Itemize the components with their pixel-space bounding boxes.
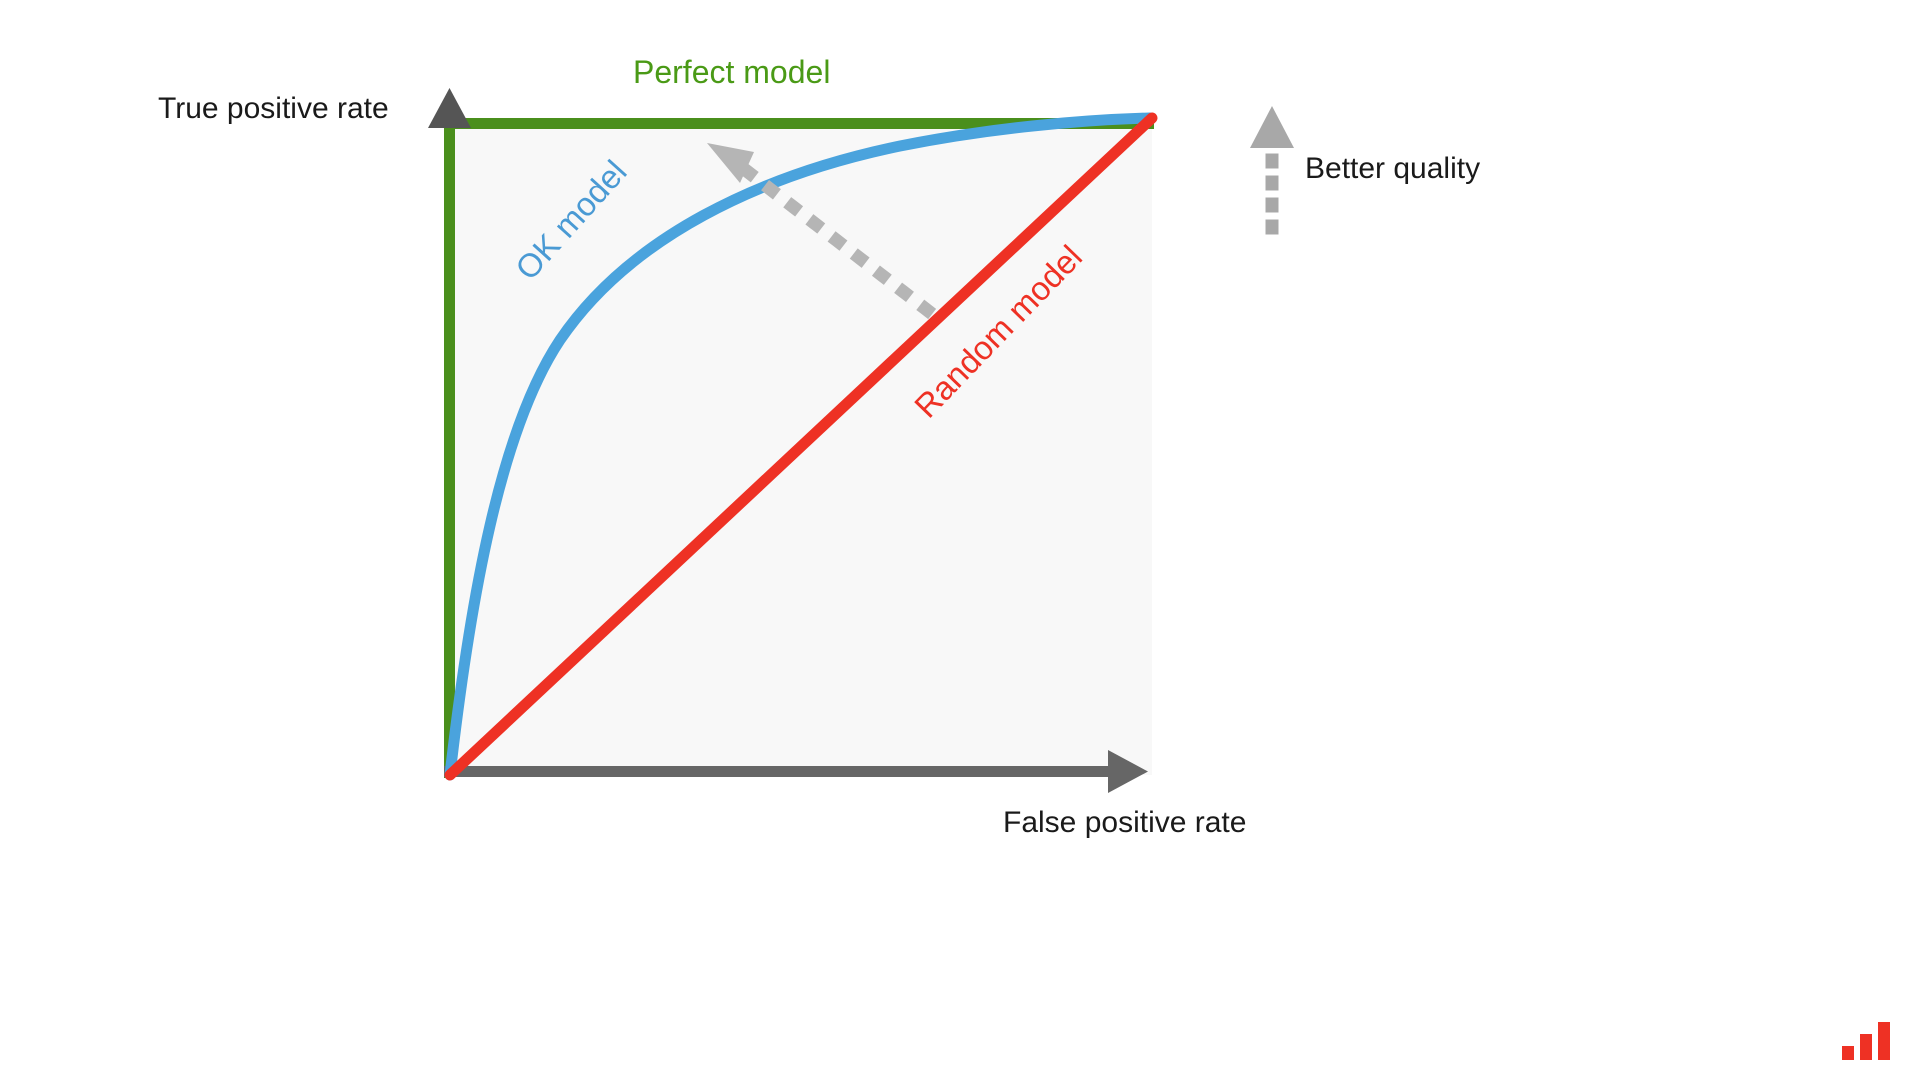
- better-quality-arrow-icon: [1250, 106, 1294, 232]
- roc-chart-svg: [0, 0, 1919, 1080]
- y-axis-arrow-icon: [428, 88, 471, 128]
- x-axis-label: False positive rate: [1003, 806, 1246, 840]
- better-quality-label: Better quality: [1305, 152, 1480, 186]
- brand-bars-icon: [1842, 1022, 1890, 1060]
- perfect-model-label: Perfect model: [633, 54, 830, 91]
- y-axis-label: True positive rate: [158, 92, 389, 126]
- diagram-canvas: True positive rate False positive rate P…: [0, 0, 1919, 1080]
